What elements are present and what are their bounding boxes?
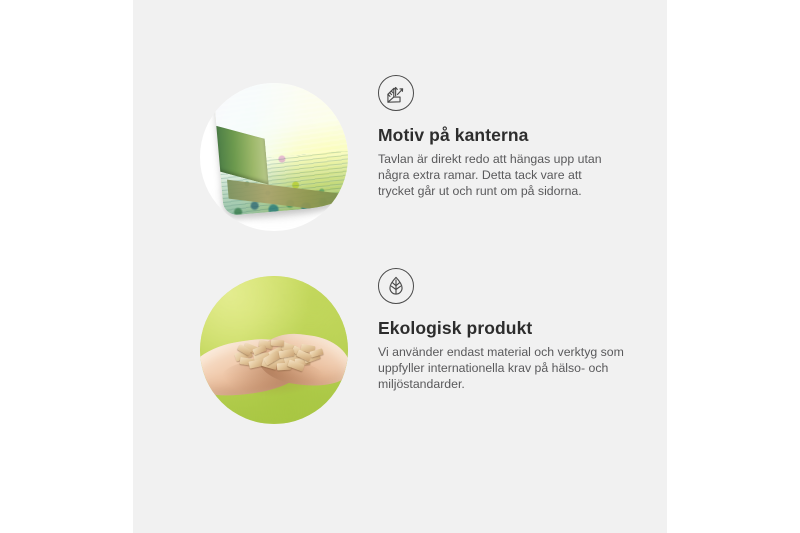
feature-description-line: Vi använder endast material och verktyg … <box>378 344 648 360</box>
feature-description-line: några extra ramar. Detta tack vare att <box>378 167 648 183</box>
feature-description-line: Tavlan är direkt redo att hängas upp uta… <box>378 151 648 167</box>
feature-block-edges: Motiv på kanterna Tavlan är direkt redo … <box>133 75 667 255</box>
feature-block-eco: Ekologisk produkt Vi använder endast mat… <box>133 268 667 443</box>
wood-chip <box>271 339 284 346</box>
feature-title: Motiv på kanterna <box>378 125 658 146</box>
canvas-wrapped-edges-icon <box>378 75 414 111</box>
eco-wood-chips-photo <box>200 276 348 424</box>
canvas-print-photo <box>200 83 348 231</box>
leaf-icon <box>378 268 414 304</box>
canvas-block <box>212 83 348 216</box>
wood-chip-pile <box>231 325 323 375</box>
feature-description-line: trycket går ut och runt om på sidorna. <box>378 183 648 199</box>
feature-description-line: uppfyller internationella krav på hälso-… <box>378 360 648 376</box>
content-panel: Motiv på kanterna Tavlan är direkt redo … <box>133 0 667 533</box>
product-feature-panel: Motiv på kanterna Tavlan är direkt redo … <box>0 0 800 533</box>
feature-description: Tavlan är direkt redo att hängas upp uta… <box>378 151 648 199</box>
canvas-print-photo-wrapper <box>200 83 348 231</box>
feature-text-eco: Ekologisk produkt Vi använder endast mat… <box>378 268 658 392</box>
feature-text-edges: Motiv på kanterna Tavlan är direkt redo … <box>378 75 658 199</box>
feature-title: Ekologisk produkt <box>378 318 658 339</box>
feature-description: Vi använder endast material och verktyg … <box>378 344 648 392</box>
feature-description-line: miljöstandarder. <box>378 376 648 392</box>
eco-wood-chips-photo-wrapper <box>200 276 348 424</box>
